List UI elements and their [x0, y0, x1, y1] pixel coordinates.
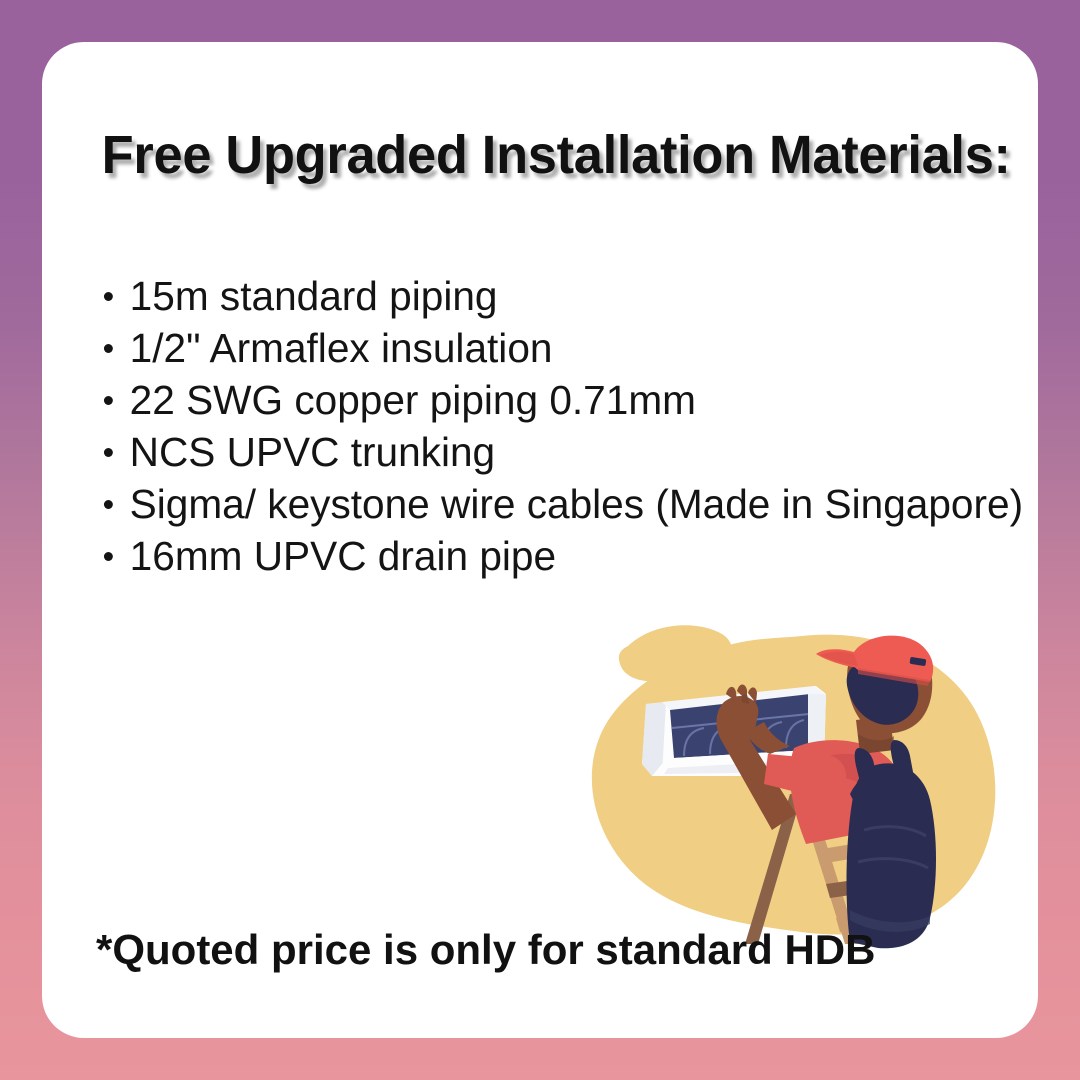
list-item-label: NCS UPVC trunking	[130, 429, 495, 475]
list-item: Sigma/ keystone wire cables (Made in Sin…	[98, 478, 1009, 530]
poster-root: Free Upgraded Installation Materials: 15…	[0, 0, 1080, 1080]
list-item-label: 22 SWG copper piping 0.71mm	[130, 377, 696, 423]
list-item: 15m standard piping	[98, 270, 1009, 322]
bullet-dot-icon	[104, 448, 113, 457]
page-title: Free Upgraded Installation Materials:	[102, 124, 987, 186]
content-card: Free Upgraded Installation Materials: 15…	[42, 42, 1038, 1038]
bullet-dot-icon	[104, 396, 113, 405]
materials-list: 15m standard piping 1/2" Armaflex insula…	[98, 270, 1018, 582]
aircon-installer-illustration	[558, 598, 1038, 978]
list-item-label: Sigma/ keystone wire cables (Made in Sin…	[130, 481, 1023, 527]
list-item: 22 SWG copper piping 0.71mm	[98, 374, 1009, 426]
bullet-dot-icon	[104, 500, 113, 509]
list-item-label: 15m standard piping	[130, 273, 498, 319]
list-item-label: 16mm UPVC drain pipe	[130, 533, 556, 579]
bullet-dot-icon	[104, 344, 113, 353]
bullet-dot-icon	[104, 292, 113, 301]
list-item: 1/2" Armaflex insulation	[98, 322, 1009, 374]
list-item: NCS UPVC trunking	[98, 426, 1009, 478]
list-item: 16mm UPVC drain pipe	[98, 530, 1009, 582]
footer-note: *Quoted price is only for standard HDB	[96, 926, 875, 974]
list-item-label: 1/2" Armaflex insulation	[130, 325, 553, 371]
bullet-dot-icon	[104, 552, 113, 561]
